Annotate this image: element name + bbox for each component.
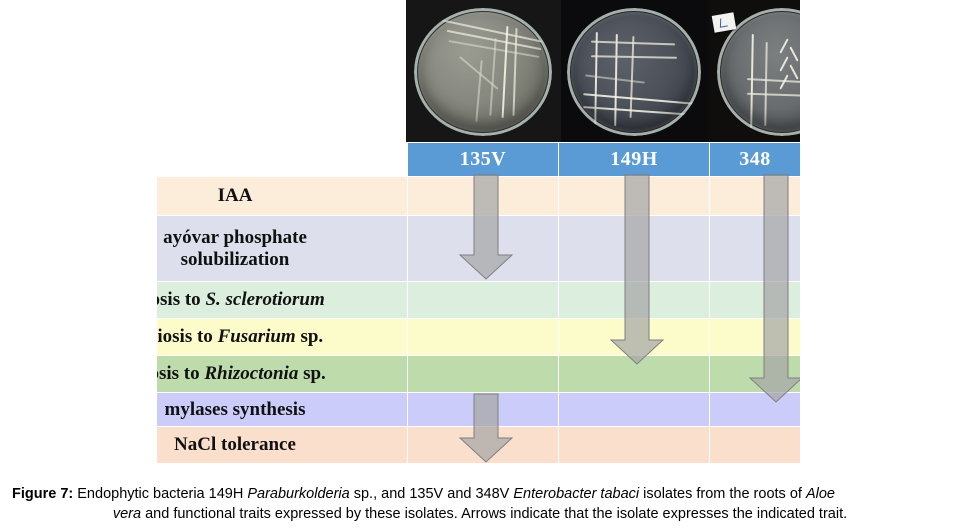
cell-nacl-135v[interactable] [408, 427, 559, 464]
caption-text-2: sp., and 135V and 348V [350, 486, 514, 502]
caption-label: Figure 7: [12, 486, 73, 502]
cell-sclerotiorum-135v[interactable] [408, 282, 559, 319]
cell-rhizoctonia-348v[interactable] [710, 356, 801, 393]
row-label-iaa: IAA [157, 177, 408, 216]
cell-iaa-348v[interactable] [710, 177, 801, 216]
cell-fusarium-348v[interactable] [710, 319, 801, 356]
row-label-antibiosis-rhizoctonia: iosis to Rhizoctonia sp. [157, 356, 408, 393]
table-row: iosis to Rhizoctonia sp. [157, 356, 800, 393]
cell-nacl-348v[interactable] [710, 427, 801, 464]
cell-rhizoctonia-135v[interactable] [408, 356, 559, 393]
table-row: iosis to S. sclerotiorum [157, 282, 800, 319]
cell-phosphate-135v[interactable] [408, 216, 559, 282]
table-header-row: 135V 149H 348 [157, 143, 800, 177]
caption-text-3: isolates from the roots of [639, 486, 806, 502]
cell-amylases-348v[interactable] [710, 393, 801, 427]
caption-italic-paraburkolderia: Paraburkolderia [247, 486, 349, 502]
caption-italic-aloe: Aloe [806, 486, 835, 502]
caption-text-4: and functional traits expressed by these… [141, 506, 847, 522]
cell-iaa-135v[interactable] [408, 177, 559, 216]
traits-table: 135V 149H 348 IAA ayóvar phosphatesolubi… [157, 142, 800, 463]
dish-body [567, 8, 701, 136]
row-label-amylases-synthesis: mylases synthesis [157, 393, 408, 427]
cell-fusarium-135v[interactable] [408, 319, 559, 356]
column-header-135v[interactable]: 135V [408, 143, 559, 177]
dish-body [414, 8, 552, 136]
figure-container: 135V 149H 348 IAA ayóvar phosphatesolubi… [0, 0, 959, 532]
cell-iaa-149h[interactable] [559, 177, 710, 216]
table-row: biosis to Fusarium sp. [157, 319, 800, 356]
row-label-antibiosis-sclerotiorum: iosis to S. sclerotiorum [157, 282, 408, 319]
cell-sclerotiorum-348v[interactable] [710, 282, 801, 319]
table-row: NaCl tolerance [157, 427, 800, 464]
table-row: IAA [157, 177, 800, 216]
cell-amylases-135v[interactable] [408, 393, 559, 427]
row-label-phosphate-solubilization: ayóvar phosphatesolubilization [157, 216, 408, 282]
dish-rim [414, 8, 552, 136]
cell-phosphate-348v[interactable] [710, 216, 801, 282]
petri-dish-348v [709, 0, 800, 142]
column-header-348v[interactable]: 348 [710, 143, 801, 177]
caption-italic-vera: vera [113, 506, 141, 522]
caption-text-1: Endophytic bacteria 149H [73, 486, 247, 502]
table-row: ayóvar phosphatesolubilization [157, 216, 800, 282]
petri-dish-photos [406, 0, 800, 142]
dish-rim [567, 8, 701, 136]
row-label-nacl-tolerance: NaCl tolerance [157, 427, 408, 464]
table-row: mylases synthesis [157, 393, 800, 427]
caption-line-2: vera and functional traits expressed by … [12, 504, 948, 524]
cell-phosphate-149h[interactable] [559, 216, 710, 282]
petri-dish-149h [561, 0, 709, 142]
cell-amylases-149h[interactable] [559, 393, 710, 427]
caption-italic-enterobacter: Enterobacter tabaci [513, 486, 639, 502]
column-header-149h[interactable]: 149H [559, 143, 710, 177]
traits-table-viewport: 135V 149H 348 IAA ayóvar phosphatesolubi… [157, 142, 800, 463]
cell-nacl-149h[interactable] [559, 427, 710, 464]
figure-caption: Figure 7: Endophytic bacteria 149H Parab… [12, 484, 948, 524]
row-label-antibiosis-fusarium: biosis to Fusarium sp. [157, 319, 408, 356]
cell-rhizoctonia-149h[interactable] [559, 356, 710, 393]
header-corner [157, 143, 408, 177]
cell-sclerotiorum-149h[interactable] [559, 282, 710, 319]
petri-dish-135v [406, 0, 561, 142]
cell-fusarium-149h[interactable] [559, 319, 710, 356]
